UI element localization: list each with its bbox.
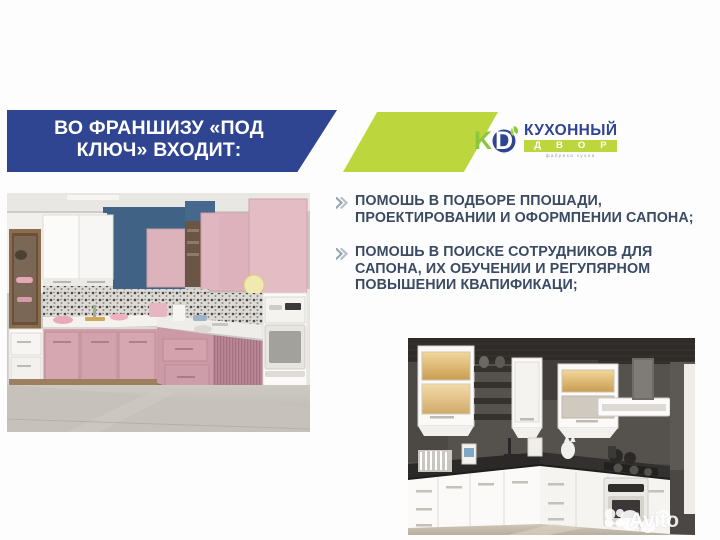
kitchen-photo-pink [7, 193, 310, 432]
kitchen-photo-white [408, 338, 695, 535]
page-title: ВО ФРАНШИЗУ «ПОД КЛЮЧ» ВХОДИТ: [54, 118, 290, 164]
double-chevron-right-icon [336, 244, 349, 295]
title-banner: ВО ФРАНШИЗУ «ПОД КЛЮЧ» ВХОДИТ: [7, 110, 337, 172]
slide-canvas: ВО ФРАНШИЗУ «ПОД КЛЮЧ» ВХОДИТ: K D КУХОН… [0, 0, 720, 540]
svg-text:D: D [495, 127, 513, 155]
avito-watermark: Avito [604, 508, 679, 533]
logo-bar-letter-d: Д [534, 141, 541, 151]
double-chevron-right-icon [336, 193, 349, 227]
logo-tagline: фабрика кухни [524, 153, 617, 159]
list-item-label: ПОМОШЬ В ПОДБОРЕ ППОШАДИ, ПРОЕКТИРОВАНИИ… [355, 193, 696, 227]
logo-bar-letter-o: О [578, 141, 586, 151]
avito-wordmark: Avito [629, 510, 679, 531]
logo-bar-letter-r: Р [600, 141, 607, 151]
svg-text:K: K [474, 127, 492, 155]
logo-bar-letter-v: В [556, 141, 563, 151]
list-item: ПОМОШЬ В ПОИСКЕ СОТРУДНИКОВ ДЛЯ САПОНА, … [336, 244, 696, 295]
list-item: ПОМОШЬ В ПОДБОРЕ ППОШАДИ, ПРОЕКТИРОВАНИИ… [336, 193, 696, 227]
logo-bar-dvor: Д В О Р [524, 140, 617, 152]
avito-logo-icon [604, 508, 626, 533]
logo-line-kuhonny: КУХОННЫЙ [524, 123, 617, 139]
kd-monogram-icon: K D [474, 123, 520, 157]
bullet-list: ПОМОШЬ В ПОДБОРЕ ППОШАДИ, ПРОЕКТИРОВАНИИ… [336, 193, 696, 311]
brand-logo: K D КУХОННЫЙ Д В О Р фабрика кухни [474, 116, 626, 164]
logo-wordmark: КУХОННЫЙ Д В О Р фабрика кухни [524, 121, 617, 159]
list-item-label: ПОМОШЬ В ПОИСКЕ СОТРУДНИКОВ ДЛЯ САПОНА, … [355, 244, 696, 295]
